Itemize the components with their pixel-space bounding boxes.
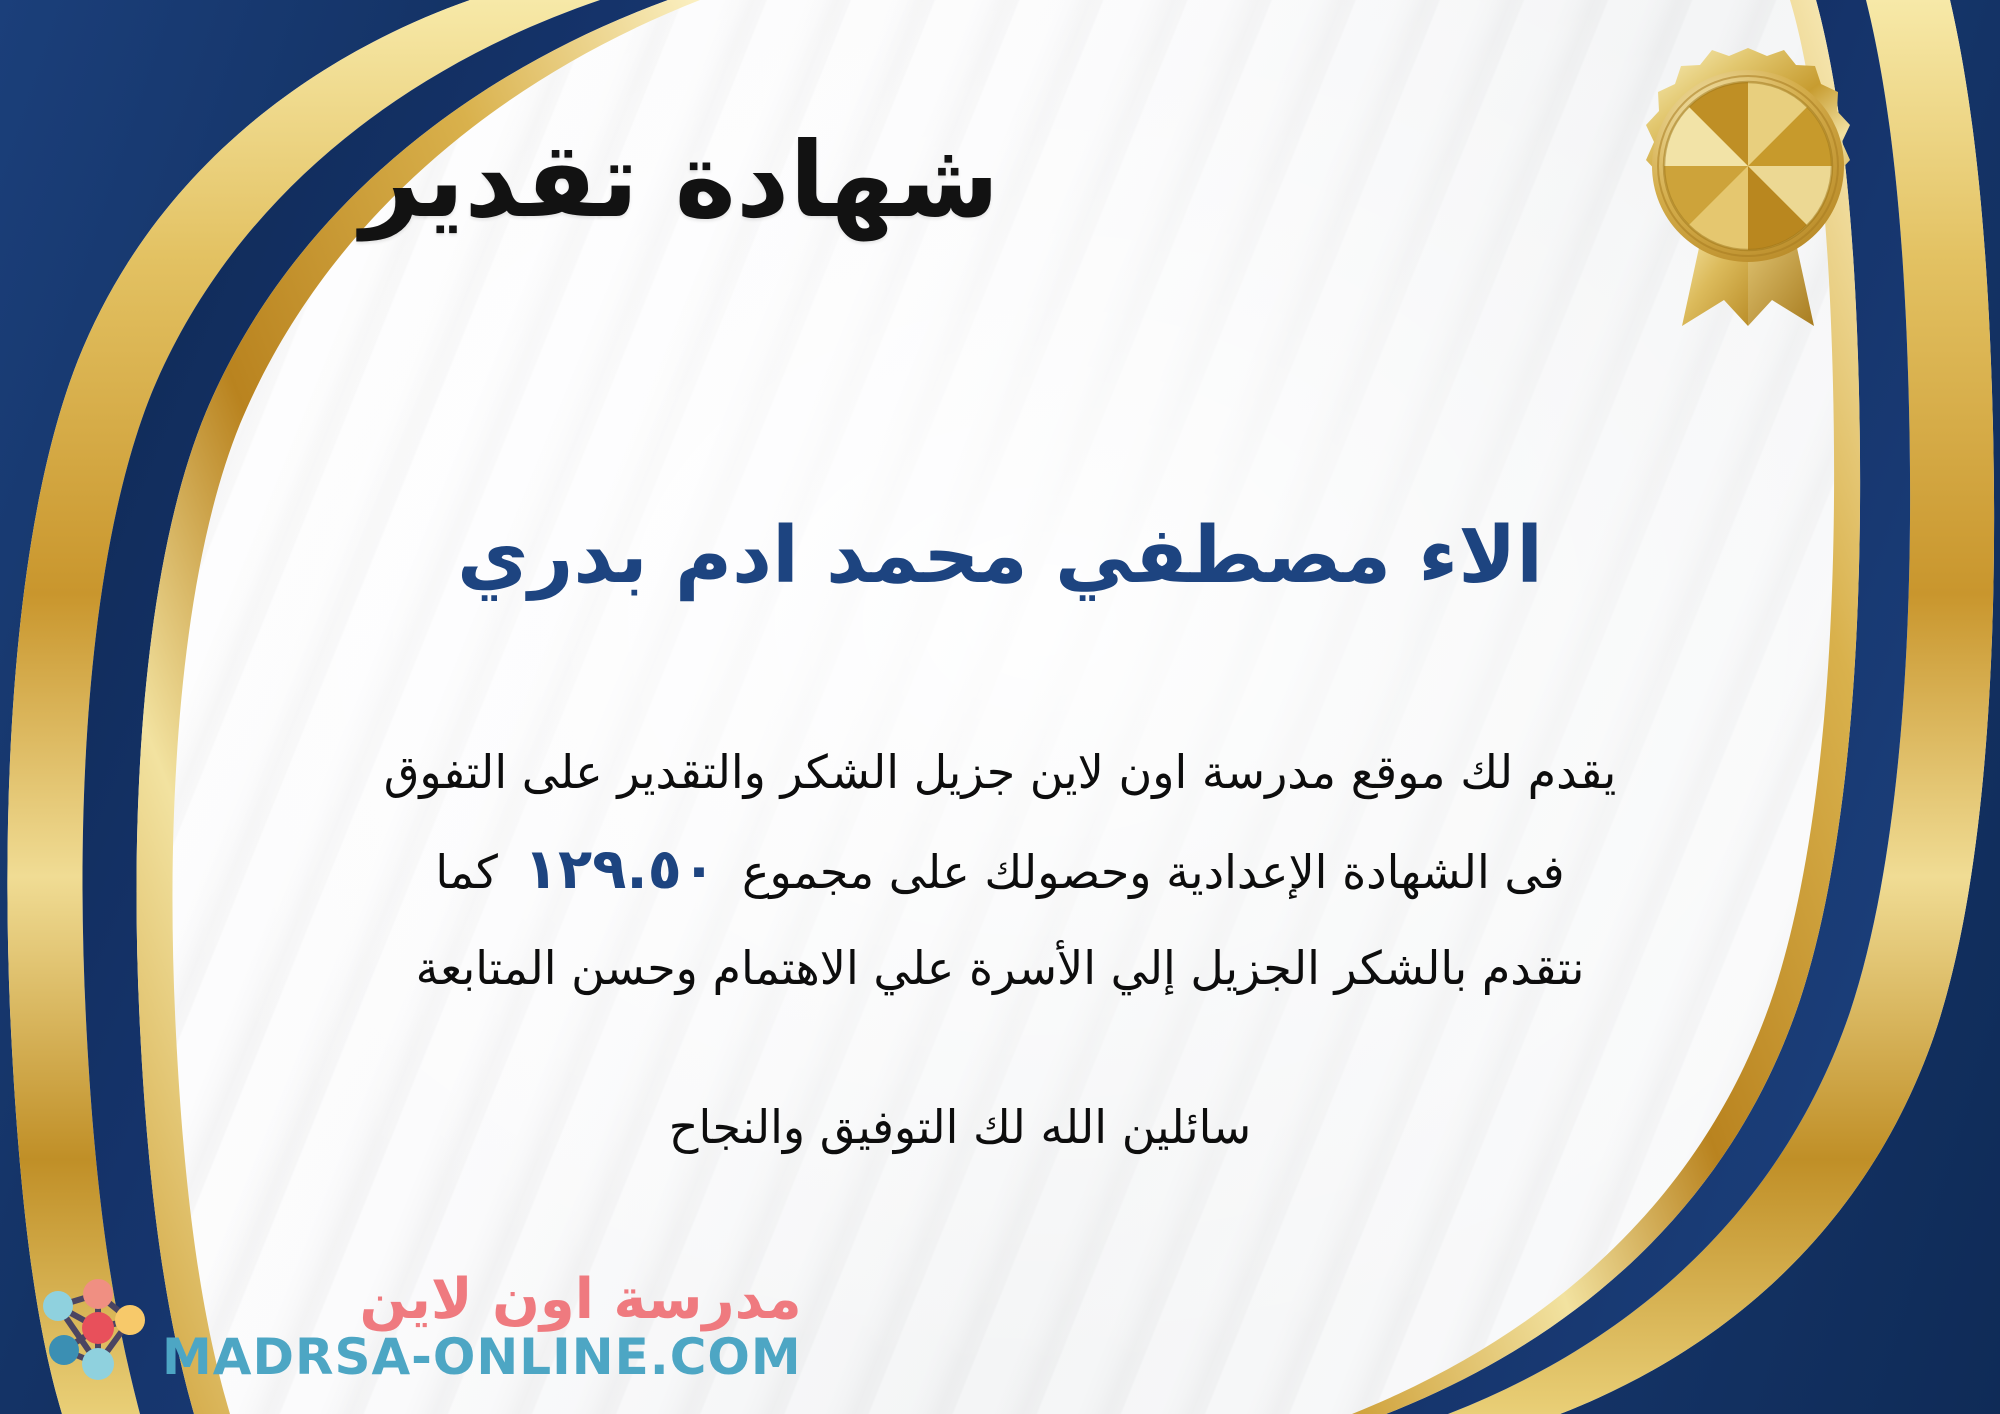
body-line-3: نتقدم بالشكر الجزيل إلي الأسرة علي الاهت…: [40, 924, 1960, 1012]
closing-wish: سائلين الله لك التوفيق والنجاح: [0, 1100, 1920, 1154]
total-score: ١٢٩.٥٠: [498, 837, 742, 902]
body-line-2-prefix: فى الشهادة الإعدادية وحصولك على مجموع: [742, 845, 1565, 899]
body-line-2: فى الشهادة الإعدادية وحصولك على مجموع١٢٩…: [40, 816, 1960, 924]
network-graph-icon: [26, 1262, 156, 1392]
brand-text: مدرسة اون لاين MADRSA-ONLINE.COM: [162, 1272, 802, 1382]
student-name: الاء مصطفي محمد ادم بدري: [0, 510, 2000, 604]
certificate-title: شهادة تقدير: [0, 122, 1360, 238]
certificate-body: يقدم لك موقع مدرسة اون لاين جزيل الشكر و…: [40, 728, 1960, 1012]
brand-website-url: MADRSA-ONLINE.COM: [162, 1332, 802, 1382]
certificate-canvas: شهادة تقدير الاء مصطفي محمد ادم بدري يقد…: [0, 0, 2000, 1414]
brand-arabic-name: مدرسة اون لاين: [359, 1272, 801, 1328]
gold-award-seal-icon: [1628, 38, 1868, 326]
body-line-1: يقدم لك موقع مدرسة اون لاين جزيل الشكر و…: [40, 728, 1960, 816]
body-line-2-suffix: كما: [435, 845, 498, 899]
brand-logo[interactable]: مدرسة اون لاين MADRSA-ONLINE.COM: [26, 1262, 802, 1392]
